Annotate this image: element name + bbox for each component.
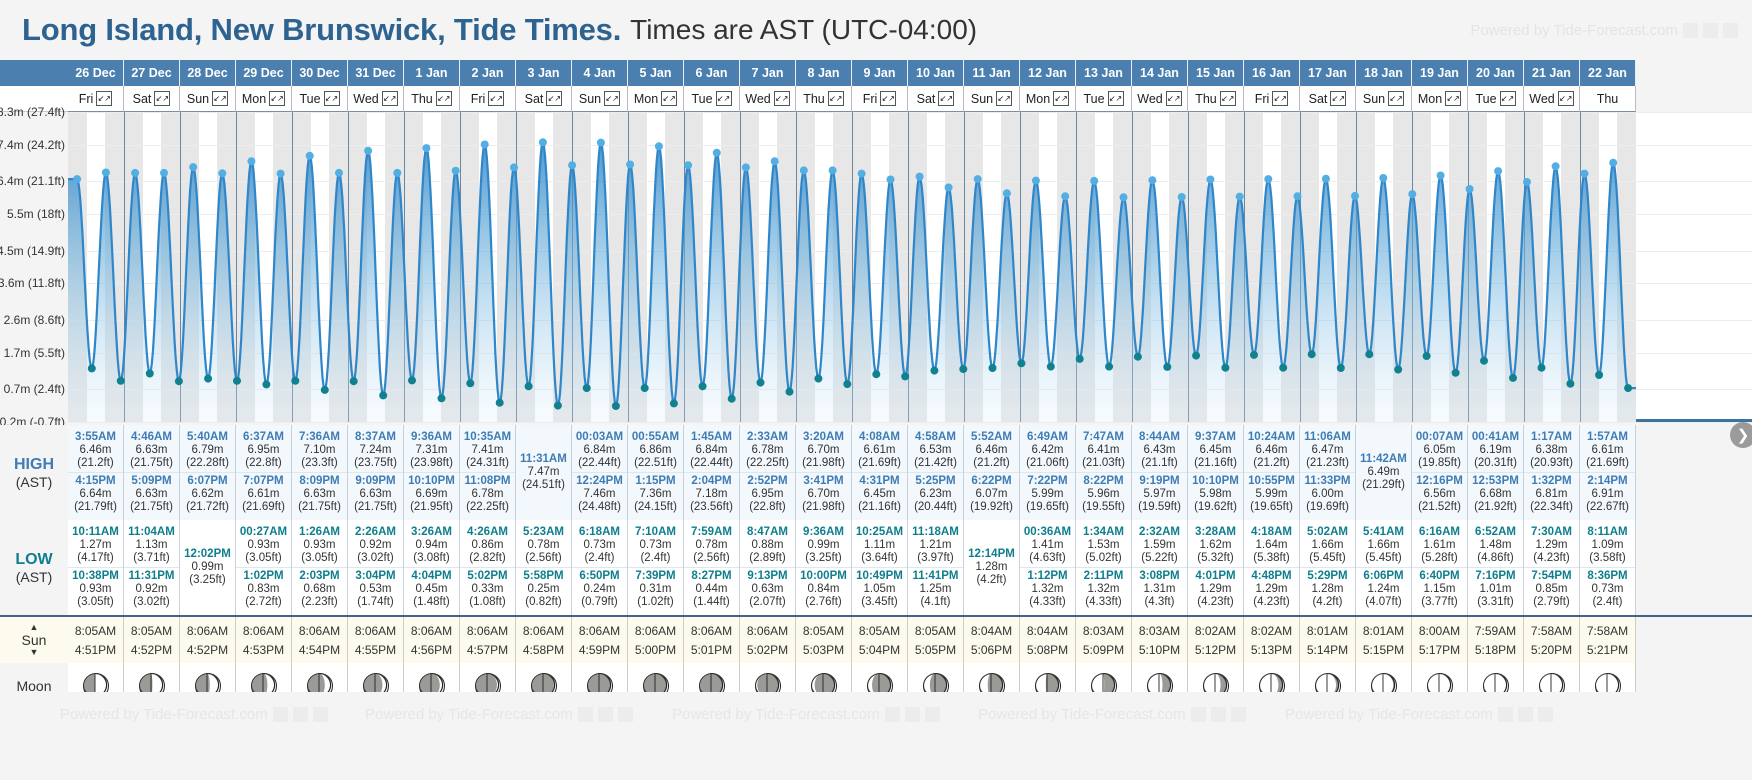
weekday-header-row: Fri↙↗Sat↙↗Sun↙↗Mon↙↗Tue↙↗Wed↙↗Thu↙↗Fri↙↗… bbox=[68, 86, 1752, 112]
tide-time: 4:58AM bbox=[915, 431, 956, 444]
tide-entry: 5:23AM0.78m(2.56ft) bbox=[523, 525, 564, 566]
tide-height-ft: (22.8ft) bbox=[245, 457, 281, 470]
weekday-label: Sun bbox=[1363, 92, 1385, 106]
y-axis-tick: 2.6m (8.6ft) bbox=[4, 313, 65, 327]
date-header-cell[interactable]: 15 Jan bbox=[1188, 60, 1244, 86]
footer-watermark-2: Powered by Tide-Forecast.com bbox=[365, 706, 633, 723]
sun-cell: 8:06AM4:56PM bbox=[404, 617, 460, 665]
tide-entry: 3:20AM6.70m(21.98ft) bbox=[802, 430, 845, 471]
tide-entry: 3:28AM1.62m(5.32ft) bbox=[1195, 525, 1236, 566]
sunrise-time: 8:06AM bbox=[467, 622, 508, 641]
high-tide-point bbox=[1494, 167, 1502, 175]
date-header-cell[interactable]: 18 Jan bbox=[1356, 60, 1412, 86]
sun-cell: 8:06AM4:55PM bbox=[348, 617, 404, 665]
low-tide-point bbox=[1134, 353, 1142, 361]
tide-height-ft: (20.93ft) bbox=[1530, 457, 1573, 470]
sunrise-time: 8:06AM bbox=[299, 622, 340, 641]
tide-entry: 9:36AM7.31m(23.98ft) bbox=[410, 430, 453, 471]
tide-height-m: 0.73m bbox=[640, 539, 672, 552]
high-tide-point bbox=[1032, 177, 1040, 185]
tide-entry: 8:22PM5.96m(19.55ft) bbox=[1076, 472, 1131, 515]
sun-cell: 8:05AM4:52PM bbox=[124, 617, 180, 665]
date-header-cell[interactable]: 14 Jan bbox=[1132, 60, 1188, 86]
tide-time: 9:09PM bbox=[355, 475, 395, 488]
low-tide-point bbox=[814, 375, 822, 383]
tide-entry: 1:57AM6.61m(21.69ft) bbox=[1586, 430, 1629, 471]
high-tide-cell: 4:46AM6.63m(21.75ft)5:09PM6.63m(21.75ft) bbox=[124, 425, 180, 520]
sunset-time: 5:03PM bbox=[803, 641, 844, 660]
tide-height-m: 6.53m bbox=[920, 444, 952, 457]
high-tide-cell: 8:37AM7.24m(23.75ft)9:09PM6.63m(21.75ft) bbox=[348, 425, 404, 520]
tide-height-m: 0.78m bbox=[696, 539, 728, 552]
tide-time: 6:49AM bbox=[1027, 431, 1068, 444]
weekday-label: Fri bbox=[1255, 92, 1270, 106]
low-tide-point bbox=[233, 377, 241, 385]
tide-height-ft: (19.59ft) bbox=[1138, 501, 1181, 514]
tide-height-m: 6.56m bbox=[1424, 488, 1456, 501]
sunrise-time: 8:00AM bbox=[1419, 622, 1460, 641]
tide-height-m: 5.96m bbox=[1088, 488, 1120, 501]
date-header-cell[interactable]: 29 Dec bbox=[236, 60, 292, 86]
tide-time: 7:47AM bbox=[1083, 431, 1124, 444]
high-tide-cell: 7:47AM6.41m(21.03ft)8:22PM5.96m(19.55ft) bbox=[1076, 425, 1132, 520]
footer-text-1: Powered by Tide-Forecast.com bbox=[60, 706, 268, 723]
date-header-cell[interactable]: 16 Jan bbox=[1244, 60, 1300, 86]
tide-height-ft: (22.44ft) bbox=[578, 457, 621, 470]
tide-time: 7:54PM bbox=[1531, 570, 1571, 583]
tide-height-m: 1.29m bbox=[1200, 583, 1232, 596]
expand-day-icon[interactable]: ↙↗ bbox=[212, 91, 228, 106]
tide-time: 11:04AM bbox=[128, 526, 175, 539]
weekday-header-cell: Thu↙↗ bbox=[1188, 86, 1244, 112]
low-tide-point bbox=[1595, 371, 1603, 379]
sunrise-time: 8:06AM bbox=[523, 622, 564, 641]
high-tide-point bbox=[771, 157, 779, 165]
tide-time: 8:37AM bbox=[355, 431, 396, 444]
low-tide-point bbox=[1538, 364, 1546, 372]
tide-height-ft: (3.05ft) bbox=[77, 596, 113, 609]
tide-entry: 6:07PM6.62m(21.72ft) bbox=[180, 472, 235, 515]
tide-height-ft: (21.16ft) bbox=[858, 501, 901, 514]
tide-curve-plot bbox=[68, 112, 1752, 422]
tide-entry: 8:11AM1.09m(3.58ft) bbox=[1587, 525, 1627, 566]
expand-day-icon[interactable]: ↙↗ bbox=[1558, 91, 1574, 106]
high-tide-point bbox=[1206, 176, 1214, 184]
tide-entry: 5:09PM6.63m(21.75ft) bbox=[124, 472, 179, 515]
tide-height-ft: (23.56ft) bbox=[690, 501, 733, 514]
tide-height-m: 6.38m bbox=[1536, 444, 1568, 457]
tide-height-m: 6.43m bbox=[1144, 444, 1176, 457]
sunset-time: 4:57PM bbox=[467, 641, 508, 660]
date-header-cell[interactable]: 10 Jan bbox=[908, 60, 964, 86]
tide-entry: 7:10AM0.73m(2.4ft) bbox=[635, 525, 676, 566]
tide-height-m: 6.45m bbox=[1200, 444, 1232, 457]
tide-time: 4:01PM bbox=[1195, 570, 1235, 583]
footer-text-4: Powered by Tide-Forecast.com bbox=[978, 706, 1186, 723]
high-tide-cell: 1:45AM6.84m(22.44ft)2:04PM7.18m(23.56ft) bbox=[684, 425, 740, 520]
tide-entry: 4:58AM6.53m(21.42ft) bbox=[914, 430, 957, 471]
tide-time: 8:27PM bbox=[691, 570, 731, 583]
tide-entry: 12:24PM7.46m(24.48ft) bbox=[572, 472, 627, 515]
tide-height-ft: (4.86ft) bbox=[1477, 552, 1513, 565]
weekday-label: Thu bbox=[411, 92, 433, 106]
tide-time: 5:09PM bbox=[131, 475, 171, 488]
tide-entry: 11:41PM1.25m(4.1ft) bbox=[908, 567, 963, 610]
tide-height-m: 0.73m bbox=[584, 539, 616, 552]
tide-height-ft: (5.22ft) bbox=[1141, 552, 1177, 565]
weekday-header-cell: Thu↙↗ bbox=[404, 86, 460, 112]
tide-entry: 4:04PM0.45m(1.48ft) bbox=[404, 567, 459, 610]
high-tide-point bbox=[189, 163, 197, 171]
high-tide-point bbox=[102, 169, 110, 177]
expand-day-icon[interactable]: ↙↗ bbox=[269, 91, 285, 106]
tide-entry: 7:07PM6.61m(21.69ft) bbox=[236, 472, 291, 515]
expand-day-icon[interactable]: ↙↗ bbox=[996, 91, 1012, 106]
expand-day-icon[interactable]: ↙↗ bbox=[488, 91, 504, 106]
expand-day-icon[interactable]: ↙↗ bbox=[1500, 91, 1516, 106]
weekday-label: Tue bbox=[1083, 92, 1104, 106]
tide-height-ft: (4.23ft) bbox=[1197, 596, 1233, 609]
date-header-cell[interactable]: 19 Jan bbox=[1412, 60, 1468, 86]
sunset-time: 4:55PM bbox=[355, 641, 396, 660]
date-header-cell[interactable]: 13 Jan bbox=[1076, 60, 1132, 86]
scroll-next-button[interactable]: ❯ bbox=[1730, 422, 1752, 448]
low-tide-point bbox=[1017, 359, 1025, 367]
tide-entry: 11:33PM6.00m(19.69ft) bbox=[1300, 472, 1355, 515]
tide-time: 5:25PM bbox=[915, 475, 955, 488]
date-header-cell[interactable]: 8 Jan bbox=[796, 60, 852, 86]
date-header-cell[interactable]: 3 Jan bbox=[516, 60, 572, 86]
expand-day-icon[interactable]: ↙↗ bbox=[1388, 91, 1404, 106]
weekday-header-cell: Tue↙↗ bbox=[1076, 86, 1132, 112]
tide-height-m: 6.95m bbox=[248, 444, 280, 457]
tide-height-ft: (23.98ft) bbox=[410, 457, 453, 470]
low-tide-cell: 7:59AM0.78m(2.56ft)8:27PM0.44m(1.44ft) bbox=[684, 520, 740, 615]
expand-day-icon[interactable]: ↙↗ bbox=[716, 91, 732, 106]
expand-day-icon[interactable]: ↙↗ bbox=[1220, 91, 1236, 106]
tide-entry: 5:58PM0.25m(0.82ft) bbox=[516, 567, 571, 610]
tide-time: 4:48PM bbox=[1251, 570, 1291, 583]
tide-height-m: 6.70m bbox=[808, 444, 840, 457]
tide-height-ft: (3.05ft) bbox=[301, 552, 337, 565]
sunset-time: 4:56PM bbox=[411, 641, 452, 660]
tide-time: 1:15PM bbox=[635, 475, 675, 488]
sunset-time: 5:15PM bbox=[1363, 641, 1404, 660]
tide-height-ft: (0.82ft) bbox=[525, 596, 561, 609]
tide-entry: 5:29PM1.28m(4.2ft) bbox=[1300, 567, 1355, 610]
tide-time: 1:12PM bbox=[1027, 570, 1067, 583]
sun-cell: 8:06AM4:54PM bbox=[292, 617, 348, 665]
sunset-time: 5:01PM bbox=[691, 641, 732, 660]
weekday-label: Mon bbox=[242, 92, 266, 106]
date-header-cell[interactable]: 7 Jan bbox=[740, 60, 796, 86]
expand-day-icon[interactable]: ↙↗ bbox=[880, 91, 896, 106]
weekday-label: Mon bbox=[1418, 92, 1442, 106]
high-tide-point bbox=[73, 175, 81, 183]
tide-height-m: 7.18m bbox=[696, 488, 728, 501]
tide-height-ft: (2.89ft) bbox=[749, 552, 785, 565]
tide-height-m: 6.46m bbox=[1256, 444, 1288, 457]
expand-day-icon[interactable]: ↙↗ bbox=[546, 91, 562, 106]
high-tide-cell: 1:17AM6.38m(20.93ft)1:32PM6.81m(22.34ft) bbox=[1524, 425, 1580, 520]
weekday-header-cell: Mon↙↗ bbox=[1412, 86, 1468, 112]
low-tide-point bbox=[1047, 363, 1055, 371]
low-tide-point bbox=[959, 365, 967, 373]
sunset-time: 5:21PM bbox=[1587, 641, 1628, 660]
tide-entry: 3:08PM1.31m(4.3ft) bbox=[1132, 567, 1187, 610]
tide-height-ft: (3.05ft) bbox=[245, 552, 281, 565]
high-tide-cell: 1:57AM6.61m(21.69ft)2:14PM6.91m(22.67ft) bbox=[1580, 425, 1636, 520]
expand-day-icon[interactable]: ↙↗ bbox=[828, 91, 844, 106]
tide-height-ft: (22.67ft) bbox=[1586, 501, 1629, 514]
date-header-cell[interactable]: 2 Jan bbox=[460, 60, 516, 86]
date-header-cell[interactable]: 20 Jan bbox=[1468, 60, 1524, 86]
weekday-header-cell: Wed↙↗ bbox=[740, 86, 796, 112]
sunset-time: 5:17PM bbox=[1419, 641, 1460, 660]
tide-height-ft: (3.71ft) bbox=[133, 552, 169, 565]
date-header-cell[interactable]: 4 Jan bbox=[572, 60, 628, 86]
sun-cell: 7:59AM5:18PM bbox=[1468, 617, 1524, 665]
tide-height-ft: (1.48ft) bbox=[413, 596, 449, 609]
tide-height-ft: (21.2ft) bbox=[77, 457, 113, 470]
sun-cell: 7:58AM5:20PM bbox=[1524, 617, 1580, 665]
high-tide-point bbox=[422, 144, 430, 152]
tide-height-m: 6.62m bbox=[192, 488, 224, 501]
page-title: Long Island, New Brunswick, Tide Times. bbox=[0, 12, 621, 48]
high-tide-point bbox=[218, 169, 226, 177]
tide-height-ft: (0.79ft) bbox=[581, 596, 617, 609]
high-tide-label: HIGH (AST) bbox=[0, 425, 68, 520]
date-header-cell[interactable]: 1 Jan bbox=[404, 60, 460, 86]
expand-day-icon[interactable]: ↙↗ bbox=[938, 91, 954, 106]
expand-day-icon[interactable]: ↙↗ bbox=[1166, 91, 1182, 106]
tide-height-ft: (21.95ft) bbox=[410, 501, 453, 514]
tide-height-m: 6.45m bbox=[864, 488, 896, 501]
date-header-cell[interactable]: 21 Jan bbox=[1524, 60, 1580, 86]
tide-time: 11:06AM bbox=[1304, 431, 1351, 444]
weekday-header-cell: Sat↙↗ bbox=[124, 86, 180, 112]
expand-day-icon[interactable]: ↙↗ bbox=[154, 91, 170, 106]
tide-time: 00:36AM bbox=[1024, 526, 1071, 539]
tide-height-m: 0.92m bbox=[136, 583, 168, 596]
date-header-cell[interactable]: 6 Jan bbox=[684, 60, 740, 86]
tide-time: 12:24PM bbox=[576, 475, 623, 488]
date-header-cell[interactable]: 30 Dec bbox=[292, 60, 348, 86]
wind-icon bbox=[1191, 707, 1206, 722]
tide-entry: 2:26AM0.92m(3.02ft) bbox=[355, 525, 396, 566]
expand-day-icon[interactable]: ↙↗ bbox=[1272, 91, 1288, 106]
tide-height-m: 0.92m bbox=[360, 539, 392, 552]
tide-entry: 11:18AM1.21m(3.97ft) bbox=[912, 525, 959, 566]
weekday-label: Thu bbox=[1195, 92, 1217, 106]
high-tide-point bbox=[626, 161, 634, 169]
expand-day-icon[interactable]: ↙↗ bbox=[96, 91, 112, 106]
tide-time: 5:02AM bbox=[1307, 526, 1348, 539]
tide-height-m: 7.10m bbox=[304, 444, 336, 457]
expand-day-icon[interactable]: ↙↗ bbox=[382, 91, 398, 106]
tide-time: 12:14PM bbox=[968, 548, 1015, 561]
high-tide-point bbox=[1466, 185, 1474, 193]
tide-height-m: 1.21m bbox=[920, 539, 952, 552]
expand-day-icon[interactable]: ↙↗ bbox=[774, 91, 790, 106]
expand-day-icon[interactable]: ↙↗ bbox=[1330, 91, 1346, 106]
wind-icon bbox=[1683, 23, 1698, 38]
tide-height-m: 0.33m bbox=[472, 583, 504, 596]
sun-cell: 8:06AM4:53PM bbox=[236, 617, 292, 665]
expand-day-icon[interactable]: ↙↗ bbox=[436, 91, 452, 106]
y-axis-tick: 6.4m (21.1ft) bbox=[0, 174, 65, 188]
tide-time: 6:07PM bbox=[187, 475, 227, 488]
expand-day-icon[interactable]: ↙↗ bbox=[1445, 91, 1461, 106]
date-columns-area: 26 Dec27 Dec28 Dec29 Dec30 Dec31 Dec1 Ja… bbox=[68, 60, 1752, 780]
tide-height-ft: (4.63ft) bbox=[1029, 552, 1065, 565]
tide-time: 1:34AM bbox=[1083, 526, 1124, 539]
weekday-header-cell: Mon↙↗ bbox=[1020, 86, 1076, 112]
weekday-label: Sat bbox=[133, 92, 152, 106]
tide-height-m: 6.84m bbox=[584, 444, 616, 457]
date-header-cell[interactable]: 28 Dec bbox=[180, 60, 236, 86]
sun-label-text: Sun bbox=[22, 632, 47, 648]
tide-height-ft: (3.02ft) bbox=[133, 596, 169, 609]
high-tide-point bbox=[510, 163, 518, 171]
tide-height-m: 7.41m bbox=[472, 444, 504, 457]
y-axis-tick: 8.3m (27.4ft) bbox=[0, 105, 65, 119]
date-header-cell[interactable]: 31 Dec bbox=[348, 60, 404, 86]
low-tide-point bbox=[670, 399, 678, 407]
tide-time: 5:23AM bbox=[523, 526, 564, 539]
wind-icon bbox=[578, 707, 593, 722]
tide-height-m: 7.31m bbox=[416, 444, 448, 457]
low-tide-point bbox=[408, 376, 416, 384]
expand-day-icon[interactable]: ↙↗ bbox=[1108, 91, 1124, 106]
high-tide-point bbox=[1552, 162, 1560, 170]
tide-height-ft: (2.4ft) bbox=[640, 552, 670, 565]
low-tide-point bbox=[350, 377, 358, 385]
tide-height-ft: (22.34ft) bbox=[1530, 501, 1573, 514]
sun-row-label: ▲ Sun ▼ bbox=[0, 615, 68, 663]
tide-entry: 8:47AM0.88m(2.89ft) bbox=[747, 525, 788, 566]
expand-day-icon[interactable]: ↙↗ bbox=[1053, 91, 1069, 106]
tide-height-m: 0.24m bbox=[584, 583, 616, 596]
tide-time: 10:24AM bbox=[1248, 431, 1295, 444]
weekday-header-cell: Fri↙↗ bbox=[852, 86, 908, 112]
tide-time: 11:31AM bbox=[520, 453, 567, 466]
sunrise-time: 8:01AM bbox=[1363, 622, 1404, 641]
tide-height-ft: (19.69ft) bbox=[1306, 501, 1349, 514]
tide-entry: 8:37AM7.24m(23.75ft) bbox=[354, 430, 397, 471]
weekday-label: Sun bbox=[579, 92, 601, 106]
tide-height-m: 1.59m bbox=[1144, 539, 1176, 552]
tide-height-ft: (5.02ft) bbox=[1085, 552, 1121, 565]
date-header-cell[interactable]: 26 Dec bbox=[68, 60, 124, 86]
tide-entry: 12:16PM6.56m(21.52ft) bbox=[1412, 472, 1467, 515]
tide-chart-page: Long Island, New Brunswick, Tide Times. … bbox=[0, 0, 1752, 780]
tide-entry: 4:31PM6.45m(21.16ft) bbox=[852, 472, 907, 515]
date-header-cell[interactable]: 17 Jan bbox=[1300, 60, 1356, 86]
low-tide-point bbox=[1337, 364, 1345, 372]
tide-height-m: 0.93m bbox=[80, 583, 112, 596]
low-tide-point bbox=[525, 382, 533, 390]
low-tide-point bbox=[466, 379, 474, 387]
weekday-header-cell: Fri↙↗ bbox=[1244, 86, 1300, 112]
expand-day-icon[interactable]: ↙↗ bbox=[661, 91, 677, 106]
low-tide-cell: 4:18AM1.64m(5.38ft)4:48PM1.29m(4.23ft) bbox=[1244, 520, 1300, 615]
tide-area-fill bbox=[68, 142, 1636, 422]
tide-entry: 5:02PM0.33m(1.08ft) bbox=[460, 567, 515, 610]
tide-time: 00:07AM bbox=[1416, 431, 1463, 444]
high-tide-cell: 00:07AM6.05m(19.85ft)12:16PM6.56m(21.52f… bbox=[1412, 425, 1468, 520]
high-tide-cell: 00:41AM6.19m(20.31ft)12:53PM6.68m(21.92f… bbox=[1468, 425, 1524, 520]
tide-time: 3:55AM bbox=[75, 431, 116, 444]
high-tide-point bbox=[277, 170, 285, 178]
tide-height-m: 6.86m bbox=[640, 444, 672, 457]
expand-day-icon[interactable]: ↙↗ bbox=[324, 91, 340, 106]
tide-height-ft: (21.52ft) bbox=[1418, 501, 1461, 514]
sun-cell: 8:06AM5:01PM bbox=[684, 617, 740, 665]
tide-height-m: 5.99m bbox=[1256, 488, 1288, 501]
low-tide-point bbox=[1076, 355, 1084, 363]
tide-time: 7:22PM bbox=[1027, 475, 1067, 488]
tide-time: 8:22PM bbox=[1083, 475, 1123, 488]
weekday-header-cell: Sun↙↗ bbox=[572, 86, 628, 112]
tide-time: 12:16PM bbox=[1416, 475, 1463, 488]
tide-entry: 7:59AM0.78m(2.56ft) bbox=[691, 525, 732, 566]
tide-height-ft: (2.79ft) bbox=[1533, 596, 1569, 609]
weekday-header-cell: Fri↙↗ bbox=[460, 86, 516, 112]
tide-time: 7:10AM bbox=[635, 526, 676, 539]
date-header-cell[interactable]: 22 Jan bbox=[1580, 60, 1636, 86]
low-tide-point bbox=[88, 364, 96, 372]
tide-entry: 9:09PM6.63m(21.75ft) bbox=[348, 472, 403, 515]
tide-height-m: 1.66m bbox=[1312, 539, 1344, 552]
tide-time: 4:04PM bbox=[411, 570, 451, 583]
tide-time: 3:04PM bbox=[355, 570, 395, 583]
expand-day-icon[interactable]: ↙↗ bbox=[604, 91, 620, 106]
date-header-cell[interactable]: 27 Dec bbox=[124, 60, 180, 86]
high-tide-point bbox=[131, 169, 139, 177]
sun-cell: 8:05AM5:05PM bbox=[908, 617, 964, 665]
sunset-time: 5:13PM bbox=[1251, 641, 1292, 660]
date-header-cell[interactable]: 11 Jan bbox=[964, 60, 1020, 86]
date-header-cell[interactable]: 9 Jan bbox=[852, 60, 908, 86]
tide-height-ft: (2.23ft) bbox=[301, 596, 337, 609]
date-header-cell[interactable]: 5 Jan bbox=[628, 60, 684, 86]
sun-cell: 8:03AM5:09PM bbox=[1076, 617, 1132, 665]
high-tide-cell: 4:58AM6.53m(21.42ft)5:25PM6.23m(20.44ft) bbox=[908, 425, 964, 520]
low-tide-cell: 4:26AM0.86m(2.82ft)5:02PM0.33m(1.08ft) bbox=[460, 520, 516, 615]
tide-entry: 4:01PM1.29m(4.23ft) bbox=[1188, 567, 1243, 610]
tide-time: 6:22PM bbox=[971, 475, 1011, 488]
tide-time: 5:02PM bbox=[467, 570, 507, 583]
high-tide-cell: 10:24AM6.46m(21.2ft)10:55PM5.99m(19.65ft… bbox=[1244, 425, 1300, 520]
high-tide-point bbox=[1003, 189, 1011, 197]
sunrise-time: 8:05AM bbox=[915, 622, 956, 641]
tide-height-m: 1.32m bbox=[1032, 583, 1064, 596]
low-tide-point bbox=[1566, 380, 1574, 388]
tide-entry: 10:10PM5.98m(19.62ft) bbox=[1188, 472, 1243, 515]
tide-entry: 2:32AM1.59m(5.22ft) bbox=[1139, 525, 1180, 566]
tide-height-m: 0.84m bbox=[808, 583, 840, 596]
low-tide-point bbox=[1365, 350, 1373, 358]
date-header-cell[interactable]: 12 Jan bbox=[1020, 60, 1076, 86]
tide-entry: 1:02PM0.83m(2.72ft) bbox=[236, 567, 291, 610]
tide-entry: 00:55AM6.86m(22.51ft) bbox=[632, 430, 679, 471]
tide-height-m: 6.41m bbox=[1088, 444, 1120, 457]
tide-icon bbox=[1538, 707, 1553, 722]
tide-height-ft: (19.62ft) bbox=[1194, 501, 1237, 514]
tide-time: 6:06PM bbox=[1363, 570, 1403, 583]
tide-height-ft: (21.16ft) bbox=[1194, 457, 1237, 470]
